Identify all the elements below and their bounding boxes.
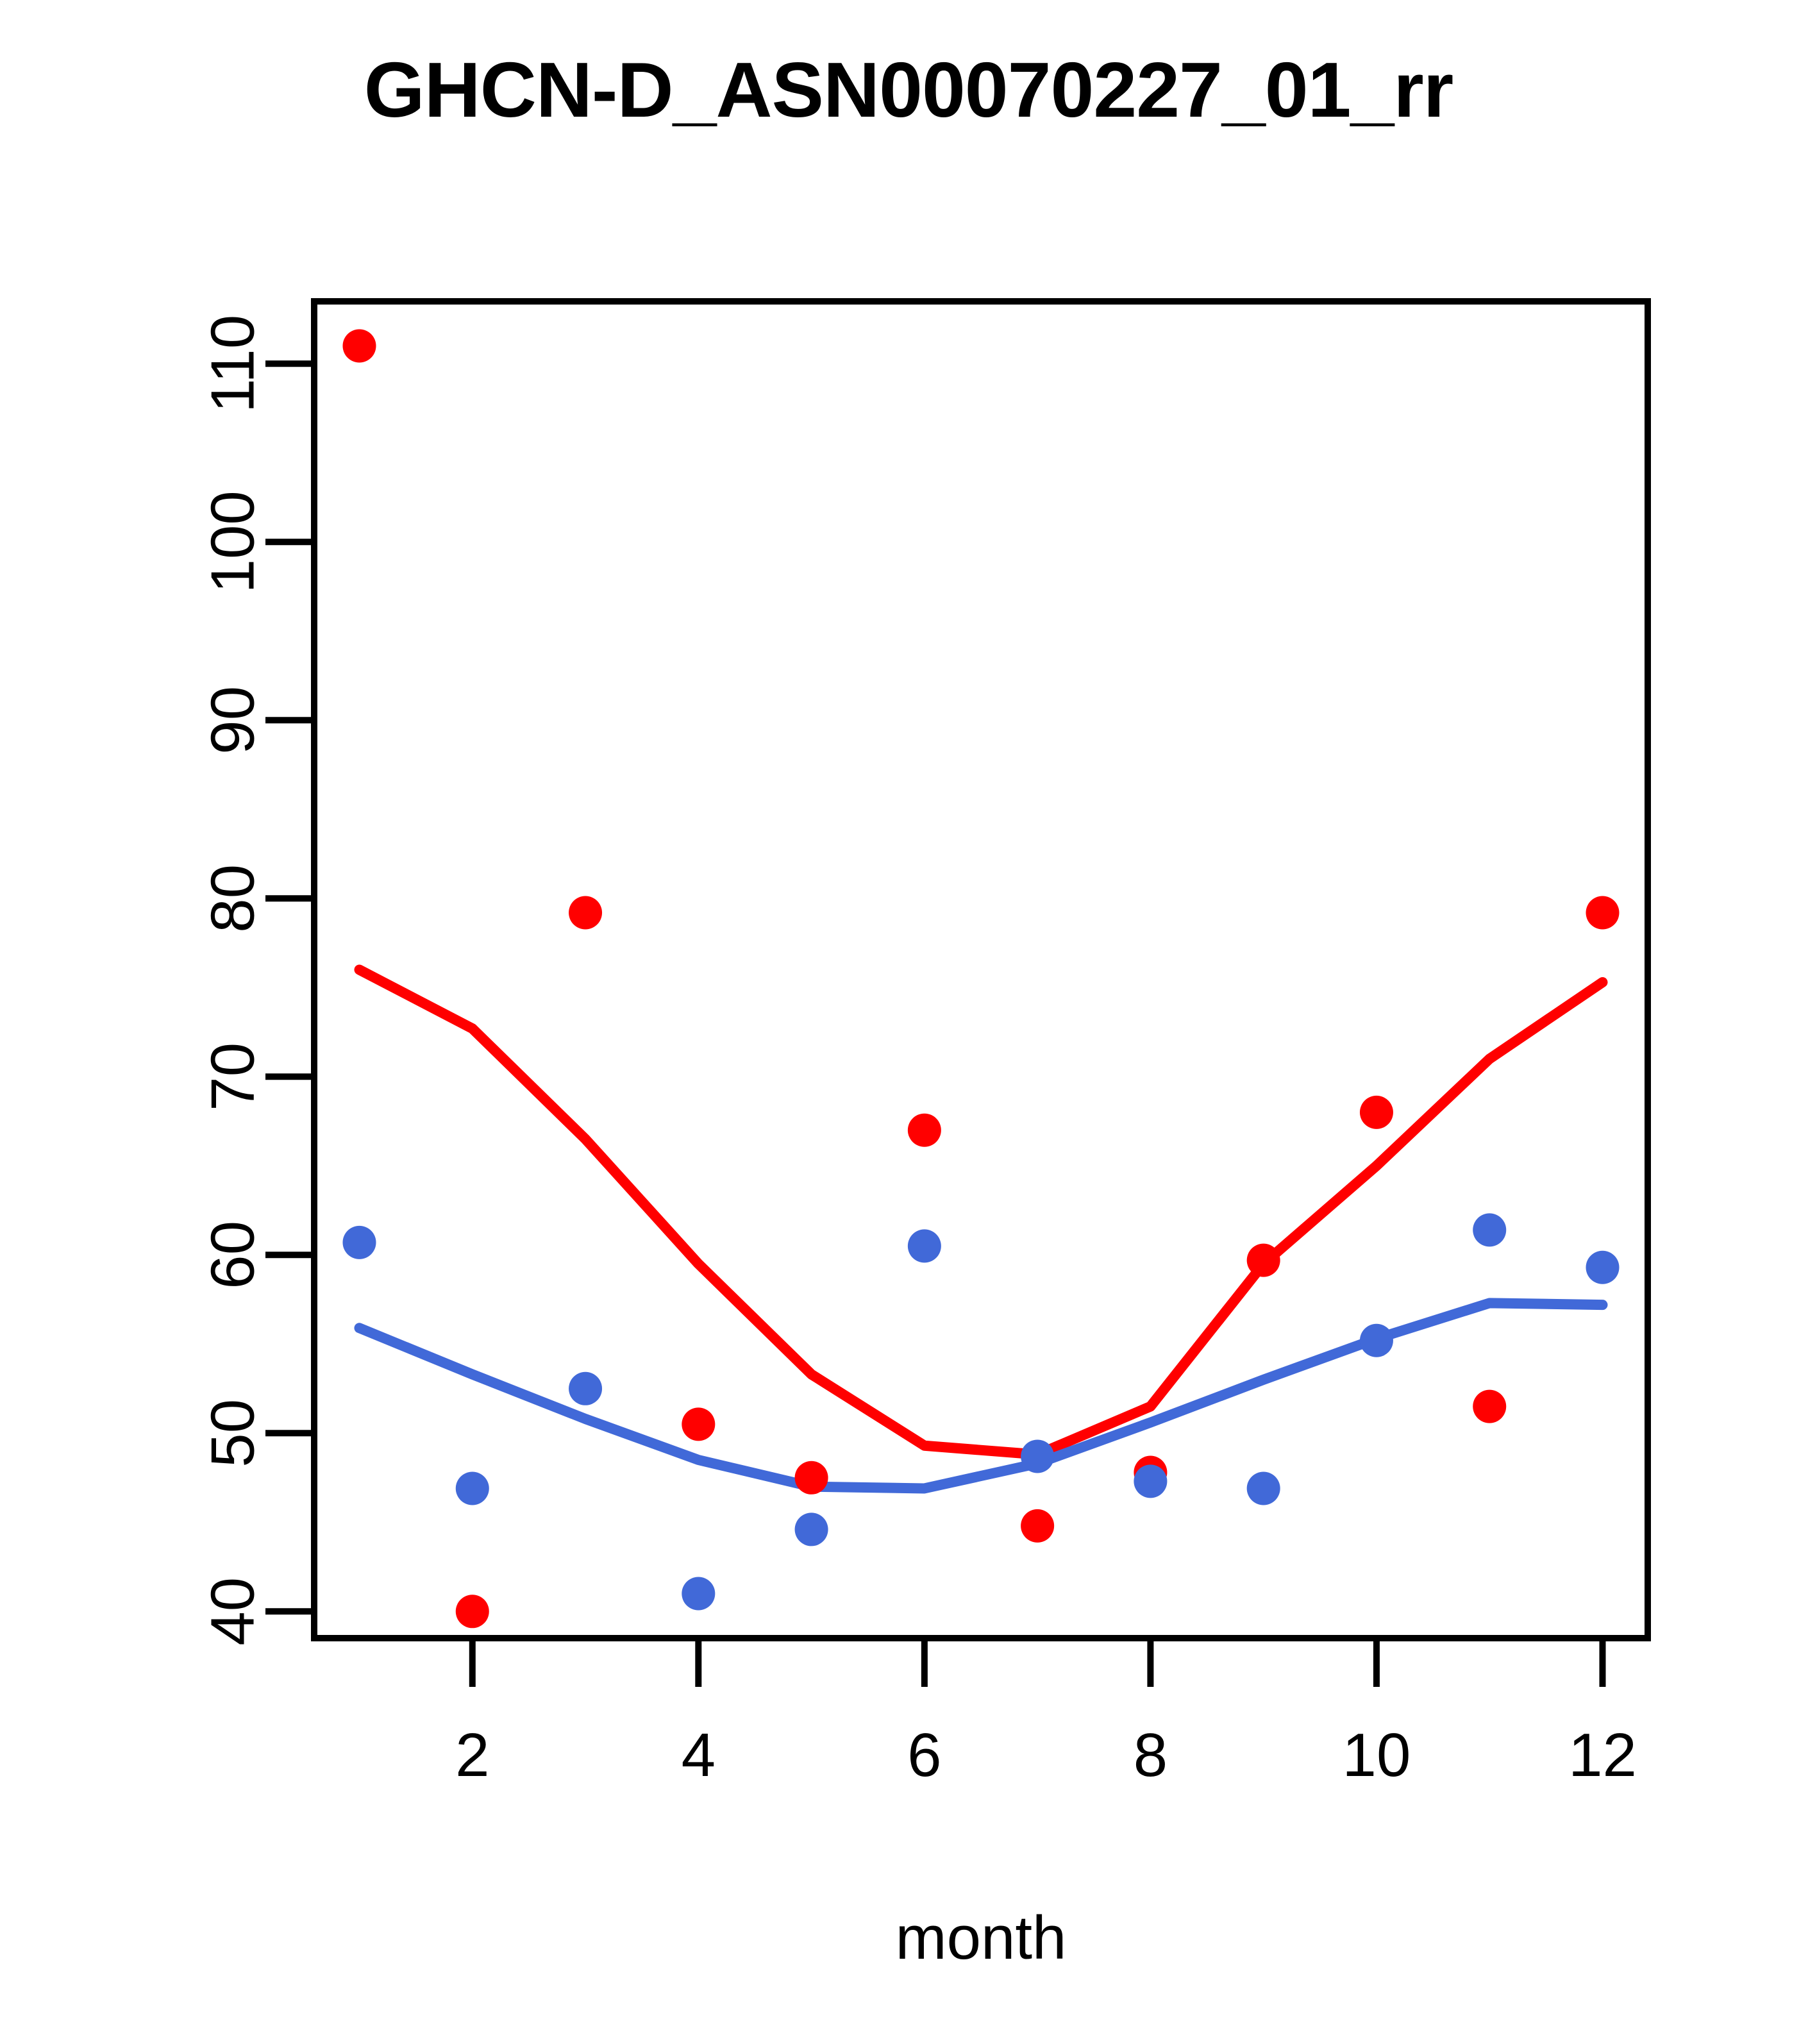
blue-points-marker (1021, 1439, 1054, 1473)
red-points-marker (1021, 1509, 1054, 1543)
red-points-marker (1360, 1096, 1393, 1129)
x-tick-label: 4 (682, 1721, 716, 1789)
x-tick-label: 12 (1568, 1721, 1637, 1789)
red-points-marker (682, 1407, 715, 1441)
x-tick-label: 10 (1343, 1721, 1411, 1789)
plot-frame-rect (314, 301, 1648, 1638)
y-tick-label: 110 (198, 315, 267, 413)
data-points (343, 330, 1620, 1629)
blue-points-marker (1134, 1464, 1167, 1498)
y-tick-label: 90 (198, 686, 267, 755)
y-tick-label: 100 (198, 490, 267, 593)
y-tick-label: 40 (198, 1577, 267, 1646)
blue-points-marker (1247, 1471, 1280, 1505)
x-tick-label: 8 (1134, 1721, 1168, 1789)
red-points-marker (569, 896, 602, 930)
plot-area: 40506070809010011024681012 month (0, 0, 1817, 2044)
x-tick-label: 2 (455, 1721, 489, 1789)
trend-lines (360, 970, 1603, 1489)
red-points-marker (456, 1595, 489, 1628)
blue-points-marker (1473, 1213, 1506, 1246)
red-points-marker (795, 1461, 828, 1495)
red-points-marker (343, 330, 376, 363)
blue-points-marker (795, 1512, 828, 1546)
blue-smooth-line (360, 1303, 1603, 1488)
y-tick-label: 60 (198, 1221, 267, 1289)
red-points-marker (1247, 1244, 1280, 1277)
y-tick-label: 70 (198, 1043, 267, 1111)
red-smooth-line (360, 970, 1603, 1455)
red-points-marker (1586, 896, 1619, 930)
blue-points-marker (1360, 1324, 1393, 1357)
x-tick-label: 6 (907, 1721, 941, 1789)
blue-points-marker (908, 1229, 941, 1262)
blue-points-marker (1586, 1251, 1619, 1284)
axes: 40506070809010011024681012 (198, 315, 1637, 1789)
y-tick-label: 80 (198, 864, 267, 933)
chart-page: GHCN-D_ASN00070227_01_rr 405060708090100… (0, 0, 1817, 2044)
x-axis-title: month (896, 1904, 1067, 1972)
red-points-marker (1473, 1390, 1506, 1423)
blue-points-marker (682, 1577, 715, 1611)
blue-points-marker (569, 1372, 602, 1405)
y-tick-label: 50 (198, 1399, 267, 1468)
plot-frame (314, 301, 1648, 1638)
blue-points-marker (456, 1471, 489, 1505)
red-points-marker (908, 1114, 941, 1147)
blue-points-marker (343, 1226, 376, 1259)
